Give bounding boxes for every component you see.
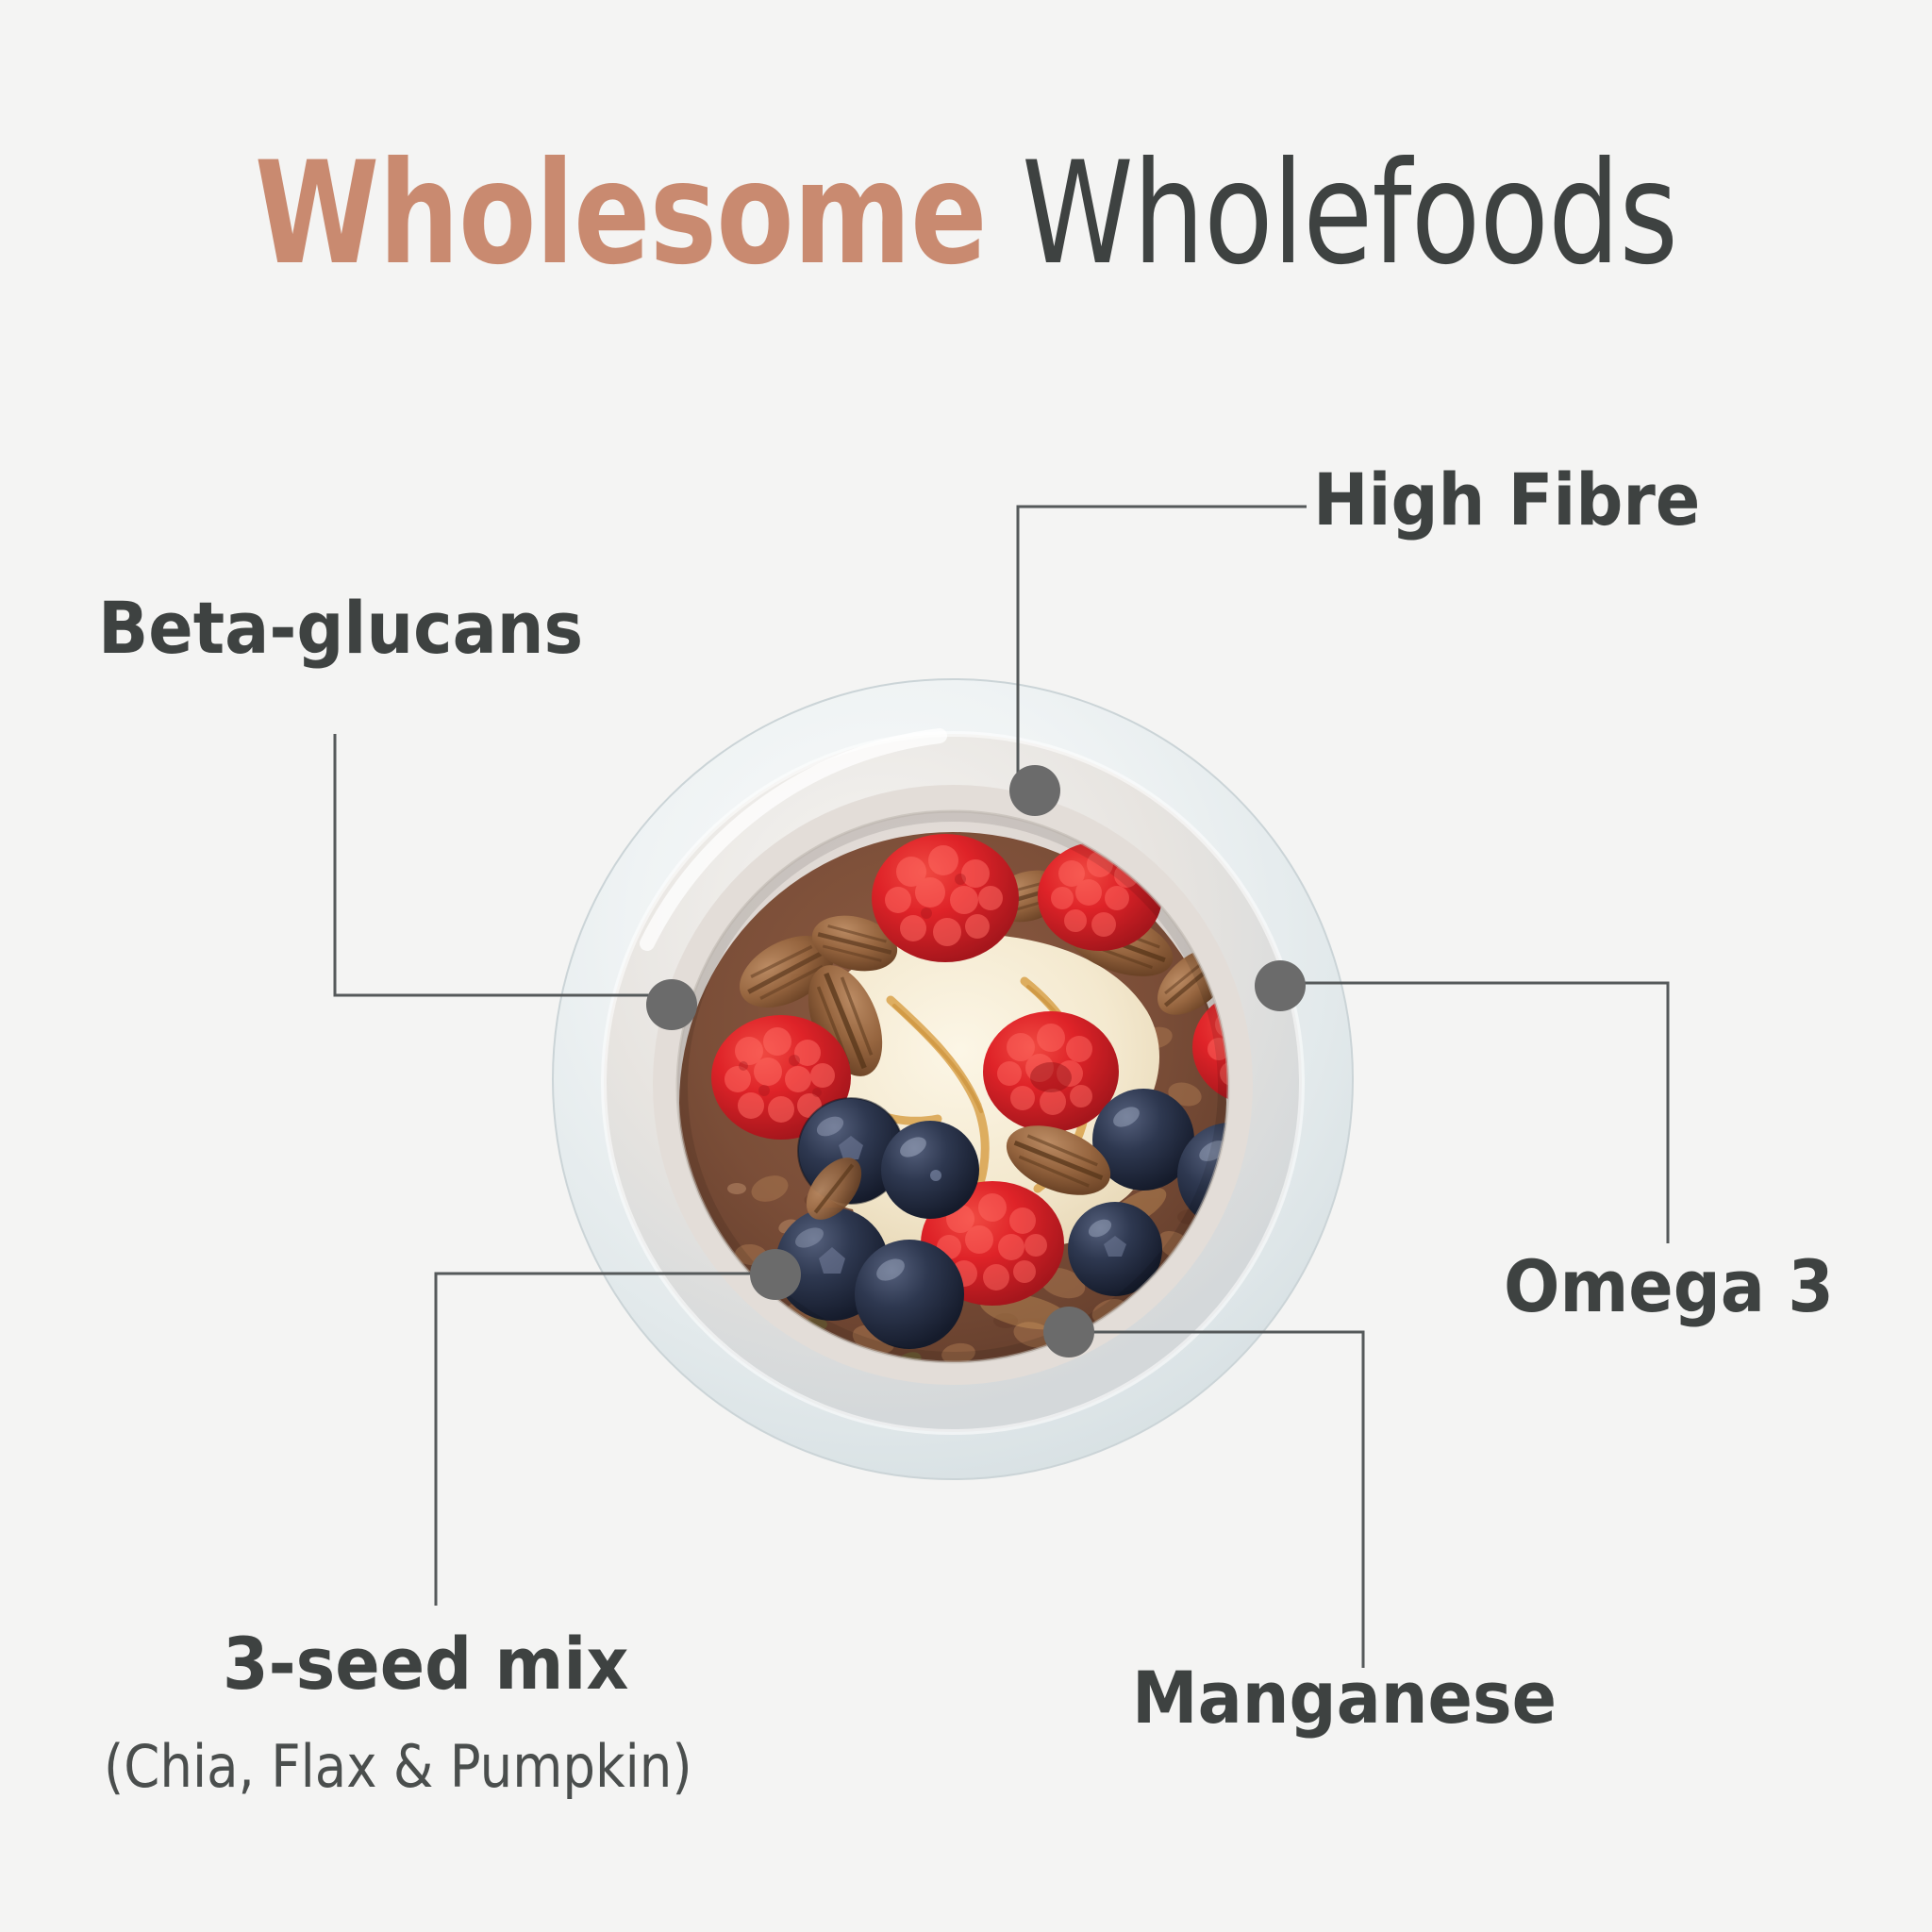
leader-line-omega-3 xyxy=(1283,983,1668,1243)
callout-dot-manganese xyxy=(1043,1307,1094,1357)
callout-dot-omega-3 xyxy=(1255,960,1306,1011)
callout-label-seed-mix: 3-seed mix xyxy=(223,1628,628,1700)
leader-line-high-fibre xyxy=(1018,507,1307,792)
leader-line-manganese xyxy=(1085,1332,1363,1668)
callout-label-beta-glucans: Beta-glucans xyxy=(98,592,583,664)
callout-dots xyxy=(646,765,1306,1357)
callout-label-high-fibre: High Fibre xyxy=(1313,464,1700,536)
callout-dot-beta-glucans xyxy=(646,979,697,1030)
leader-line-beta-glucans xyxy=(335,734,675,995)
callout-dot-high-fibre xyxy=(1009,765,1060,816)
leader-line-seed-mix xyxy=(436,1274,764,1606)
callout-dot-seed-mix xyxy=(750,1249,801,1300)
callout-sublabel-seed-mix: (Chia, Flax & Pumpkin) xyxy=(104,1738,692,1796)
callout-label-omega-3: Omega 3 xyxy=(1504,1251,1834,1323)
callout-label-manganese: Manganese xyxy=(1132,1662,1557,1734)
